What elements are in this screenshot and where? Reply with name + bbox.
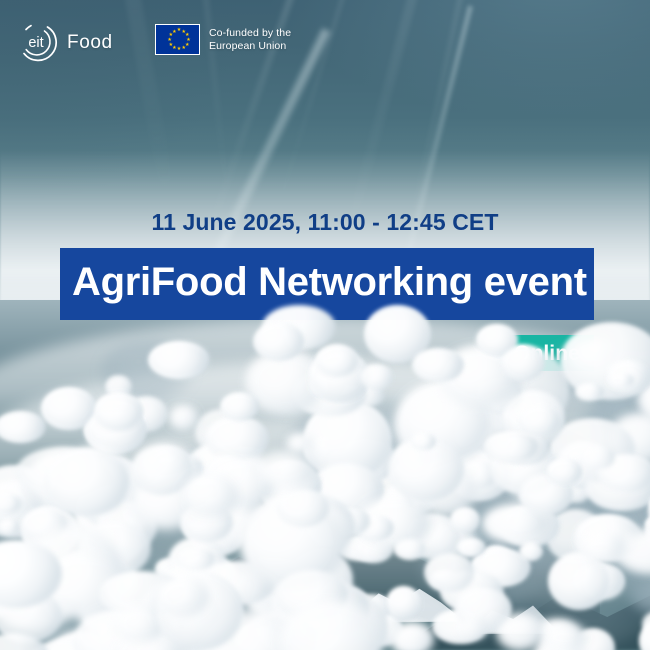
cloud-puff — [425, 553, 474, 592]
cloud-puff — [0, 412, 45, 441]
cloud-puff — [155, 576, 209, 617]
cloud-puff — [457, 617, 487, 637]
cloud-puff — [171, 407, 196, 428]
cloud-puff — [542, 625, 586, 649]
cloud-puff — [176, 548, 215, 571]
cloud-puff — [44, 449, 130, 517]
cloud-puff — [360, 365, 393, 389]
cloud-puff — [579, 447, 615, 469]
cloud-puff — [288, 435, 311, 451]
event-date-time: 11 June 2025, 11:00 - 12:45 CET — [0, 208, 650, 236]
cloud-puff — [221, 393, 258, 420]
cloud-puff — [392, 624, 432, 650]
cloud-puff — [0, 520, 18, 533]
cloud-puff — [458, 539, 485, 557]
event-poster: eit Food ★★★★★★★★★★★★ Co-funded by the E… — [0, 0, 650, 650]
event-title-banner: AgriFood Networking event — [60, 248, 594, 320]
cloud-puff — [387, 587, 420, 618]
cloud-puff — [502, 346, 544, 381]
cloud-puff — [149, 342, 209, 378]
cloud-puff — [451, 508, 479, 531]
cloud-puff — [316, 345, 358, 376]
cloud-puff — [395, 539, 425, 559]
cloud-puff — [549, 553, 609, 609]
cloud-puff — [520, 543, 542, 560]
cloud-puff — [412, 434, 435, 448]
event-title: AgriFood Networking event — [72, 262, 587, 302]
cloud-puff — [94, 393, 142, 431]
cloud-puff — [206, 417, 267, 460]
cloud-puff — [254, 451, 316, 487]
